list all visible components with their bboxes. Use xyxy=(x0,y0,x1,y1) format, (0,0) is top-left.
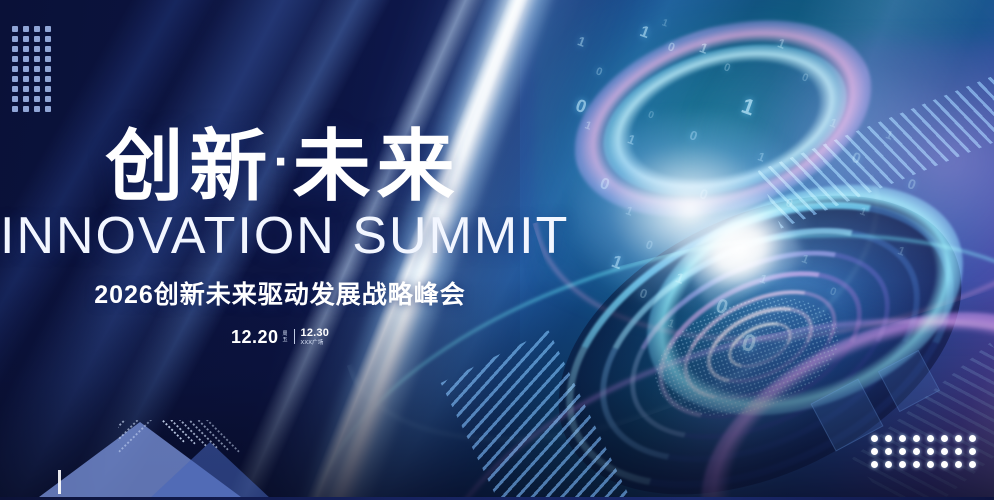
matrix-dot xyxy=(871,461,878,468)
matrix-dot xyxy=(927,435,934,442)
title-cn-right: 未来 xyxy=(293,122,461,210)
matrix-dot xyxy=(955,448,962,455)
matrix-dot xyxy=(871,448,878,455)
matrix-dot xyxy=(12,86,18,92)
matrix-dot xyxy=(885,435,892,442)
matrix-dot xyxy=(12,66,18,72)
matrix-dot xyxy=(941,461,948,468)
matrix-dot xyxy=(969,435,976,442)
matrix-dot xyxy=(34,76,40,82)
matrix-dot xyxy=(23,56,29,62)
matrix-dot xyxy=(45,56,51,62)
matrix-dot xyxy=(23,26,29,32)
matrix-dot xyxy=(899,448,906,455)
matrix-dot xyxy=(45,66,51,72)
matrix-dot xyxy=(12,56,18,62)
divider xyxy=(294,329,295,344)
matrix-dot xyxy=(12,36,18,42)
matrix-dot xyxy=(955,435,962,442)
matrix-dot xyxy=(34,96,40,102)
matrix-dot xyxy=(34,36,40,42)
matrix-dot xyxy=(34,86,40,92)
matrix-dot xyxy=(23,36,29,42)
matrix-dot xyxy=(23,66,29,72)
matrix-dot xyxy=(913,448,920,455)
date-venue-pair: 12.30 XXX广场 xyxy=(301,327,330,345)
matrix-dot xyxy=(12,46,18,52)
matrix-dot xyxy=(871,435,878,442)
matrix-dot xyxy=(34,26,40,32)
matrix-dot xyxy=(899,461,906,468)
title-cn-left: 创新 xyxy=(105,122,273,210)
matrix-dot xyxy=(23,46,29,52)
matrix-dot xyxy=(23,106,29,112)
matrix-dot xyxy=(45,96,51,102)
matrix-dot xyxy=(12,26,18,32)
matrix-dot xyxy=(45,86,51,92)
weekday-bottom: 五 xyxy=(283,338,288,343)
event-banner: 101010110101010101010101010101010101 创新·… xyxy=(0,0,994,500)
matrix-dot xyxy=(45,106,51,112)
matrix-dot xyxy=(927,461,934,468)
matrix-dot xyxy=(885,448,892,455)
matrix-dot xyxy=(899,435,906,442)
matrix-dot xyxy=(969,461,976,468)
matrix-dot xyxy=(23,76,29,82)
weekday-marker: 周 五 xyxy=(283,332,288,343)
dot-matrix-top-left xyxy=(12,26,51,112)
matrix-dot xyxy=(955,461,962,468)
date-start: 12.20 xyxy=(231,328,279,346)
venue-name: XXX广场 xyxy=(301,340,330,346)
matrix-dot xyxy=(969,448,976,455)
matrix-dot xyxy=(23,86,29,92)
matrix-dot xyxy=(12,106,18,112)
matrix-dot xyxy=(45,46,51,52)
page-title: 创新·未来 xyxy=(0,128,560,204)
matrix-dot xyxy=(34,46,40,52)
matrix-dot xyxy=(12,96,18,102)
dot-matrix-bottom-right xyxy=(871,435,976,468)
matrix-dot xyxy=(913,461,920,468)
matrix-dot xyxy=(913,435,920,442)
title-cn-separator: · xyxy=(273,133,292,191)
matrix-dot xyxy=(45,76,51,82)
matrix-dot xyxy=(927,448,934,455)
decor-accent-bar xyxy=(58,470,61,494)
matrix-dot xyxy=(45,26,51,32)
matrix-dot xyxy=(34,66,40,72)
matrix-dot xyxy=(45,36,51,42)
matrix-dot xyxy=(941,448,948,455)
matrix-dot xyxy=(34,56,40,62)
matrix-dot xyxy=(12,76,18,82)
matrix-dot xyxy=(23,96,29,102)
matrix-dot xyxy=(34,106,40,112)
subtitle: 2026创新未来驱动发展战略峰会 xyxy=(0,275,560,311)
headline-group: 创新·未来 INNOVATION SUMMIT 2026创新未来驱动发展战略峰会… xyxy=(0,128,560,346)
date-end: 12.30 xyxy=(301,327,330,339)
title-english: INNOVATION SUMMIT xyxy=(0,210,560,263)
matrix-dot xyxy=(941,435,948,442)
decor-chevron-lines xyxy=(118,420,278,500)
matrix-dot xyxy=(885,461,892,468)
date-venue-row: 12.20 周 五 12.30 XXX广场 xyxy=(0,327,560,345)
